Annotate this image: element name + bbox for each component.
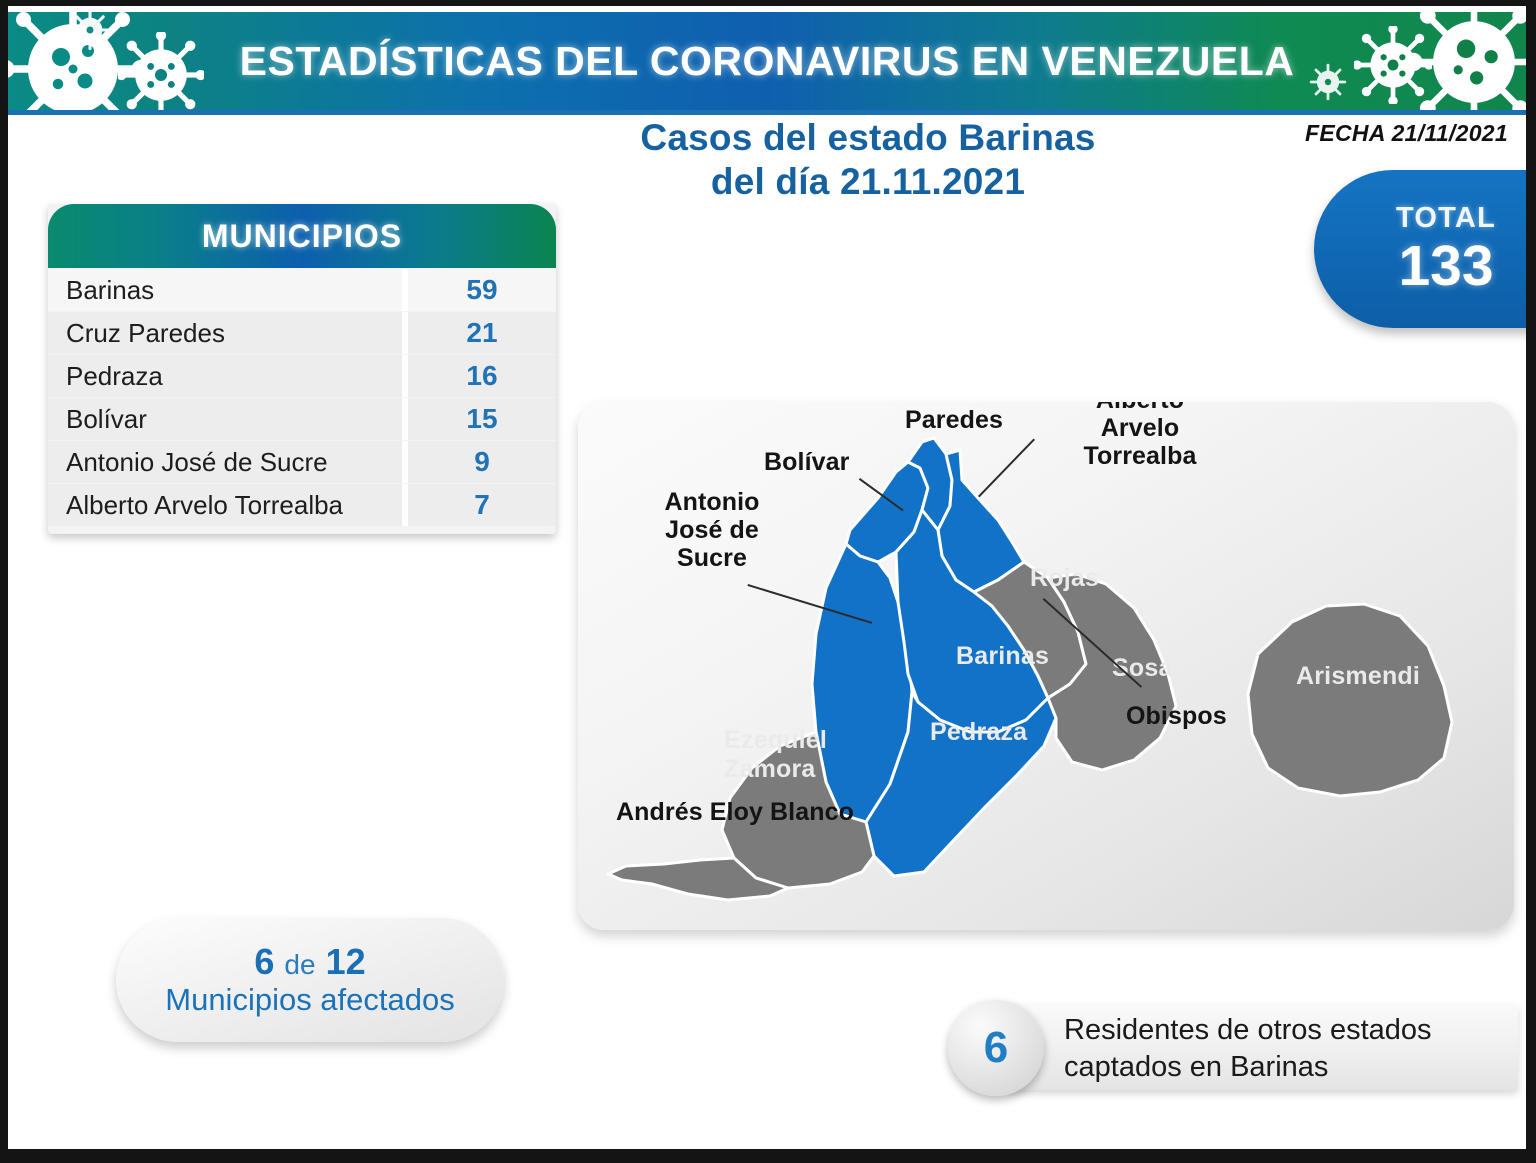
municipio-name: Bolívar	[48, 398, 402, 440]
banner-underline	[8, 110, 1526, 115]
municipio-count: 16	[408, 355, 556, 397]
map-label-obispos: Obispos	[1126, 702, 1227, 730]
municipio-name: Cruz Paredes	[48, 312, 402, 354]
table-header-label: MUNICIPIOS	[202, 218, 402, 255]
municipio-count: 7	[408, 484, 556, 526]
municipio-name: Barinas	[48, 269, 402, 311]
affected-municipios-pill: 6 de 12 Municipios afectados	[116, 918, 504, 1042]
residents-count-circle: 6	[948, 1000, 1044, 1096]
map-label-ezequiel-zamora-line1: Ezequiel	[724, 726, 827, 754]
municipio-count: 21	[408, 312, 556, 354]
municipio-count: 15	[408, 398, 556, 440]
total-label: TOTAL	[1396, 202, 1496, 235]
map-label-aat-line2: Arvelo	[1101, 414, 1179, 442]
map-region-arismendi	[1248, 604, 1452, 796]
page-title-line1: Casos del estado Barinas	[640, 117, 1095, 158]
residents-callout: 6 Residentes de otros estados captados e…	[948, 1004, 1518, 1090]
table-row: Alberto Arvelo Torrealba 7	[48, 484, 556, 526]
fecha-label: FECHA 21/11/2021	[1305, 120, 1508, 147]
map-label-ezequiel-zamora: Ezequiel Zamora	[724, 726, 894, 784]
map-label-ezequiel-zamora-line2: Zamora	[724, 755, 816, 783]
header-banner: ESTADÍSTICAS DEL CORONAVIRUS EN VENEZUEL…	[8, 12, 1526, 110]
table-row: Antonio José de Sucre 9	[48, 441, 556, 483]
municipio-name: Antonio José de Sucre	[48, 441, 402, 483]
map-label-rojas: Rojas	[1030, 564, 1099, 593]
map-label-aat-line1: Alberto	[1096, 402, 1184, 414]
table-row: Cruz Paredes 21	[48, 312, 556, 354]
page-title: Casos del estado Barinas del día 21.11.2…	[568, 116, 1168, 203]
total-badge: TOTAL 133	[1314, 170, 1526, 328]
table-header: MUNICIPIOS	[48, 204, 556, 268]
map-label-arismendi: Arismendi	[1296, 662, 1420, 691]
map-label-ajs-line2: José de	[665, 516, 759, 544]
banner-title: ESTADÍSTICAS DEL CORONAVIRUS EN VENEZUEL…	[8, 12, 1526, 110]
municipio-name: Pedraza	[48, 355, 402, 397]
map-label-cruz-paredes: Cruz Paredes	[874, 402, 1034, 434]
map-label-alberto-arvelo-torrealba: Alberto Arvelo Torrealba	[1040, 402, 1240, 470]
map-label-bolivar: Bolívar	[764, 448, 849, 476]
map-label-aat-line3: Torrealba	[1084, 442, 1197, 470]
map-label-ajs-line3: Sucre	[677, 544, 747, 572]
affected-count: 6	[254, 941, 274, 982]
map-label-andres-eloy-blanco: Andrés Eloy Blanco	[616, 798, 854, 826]
table-row: Barinas 59	[48, 269, 556, 311]
affected-caption: Municipios afectados	[165, 983, 455, 1017]
affected-ratio: 6 de 12	[254, 943, 365, 981]
municipio-count: 59	[408, 269, 556, 311]
residents-text: Residentes de otros estados captados en …	[1064, 1012, 1504, 1086]
screenshot-frame: ESTADÍSTICAS DEL CORONAVIRUS EN VENEZUEL…	[0, 0, 1536, 1163]
infographic-page: ESTADÍSTICAS DEL CORONAVIRUS EN VENEZUEL…	[8, 6, 1526, 1149]
barinas-map-panel: Rojas Sosa Arismendi Barinas Pedraza Eze…	[578, 402, 1514, 930]
map-label-ajs-line1: Antonio	[664, 488, 759, 516]
table-row: Bolívar 15	[48, 398, 556, 440]
map-label-cruz-paredes-line2: Paredes	[905, 406, 1003, 434]
residents-text-line1: Residentes de otros estados	[1064, 1014, 1432, 1046]
residents-text-line2: captados en Barinas	[1064, 1051, 1328, 1083]
residents-count: 6	[984, 1023, 1008, 1073]
table-row: Pedraza 16	[48, 355, 556, 397]
municipio-count: 9	[408, 441, 556, 483]
affected-total: 12	[326, 941, 366, 982]
map-label-barinas: Barinas	[956, 642, 1049, 671]
map-label-antonio-jose-de-sucre: Antonio José de Sucre	[624, 488, 800, 572]
page-title-line2: del día 21.11.2021	[568, 160, 1168, 204]
total-value: 133	[1398, 237, 1493, 297]
map-label-pedraza: Pedraza	[930, 718, 1027, 747]
municipio-name: Alberto Arvelo Torrealba	[48, 484, 402, 526]
municipios-table: MUNICIPIOS Barinas 59 Cruz Paredes 21 Pe…	[48, 204, 556, 534]
affected-connector: de	[284, 949, 315, 980]
